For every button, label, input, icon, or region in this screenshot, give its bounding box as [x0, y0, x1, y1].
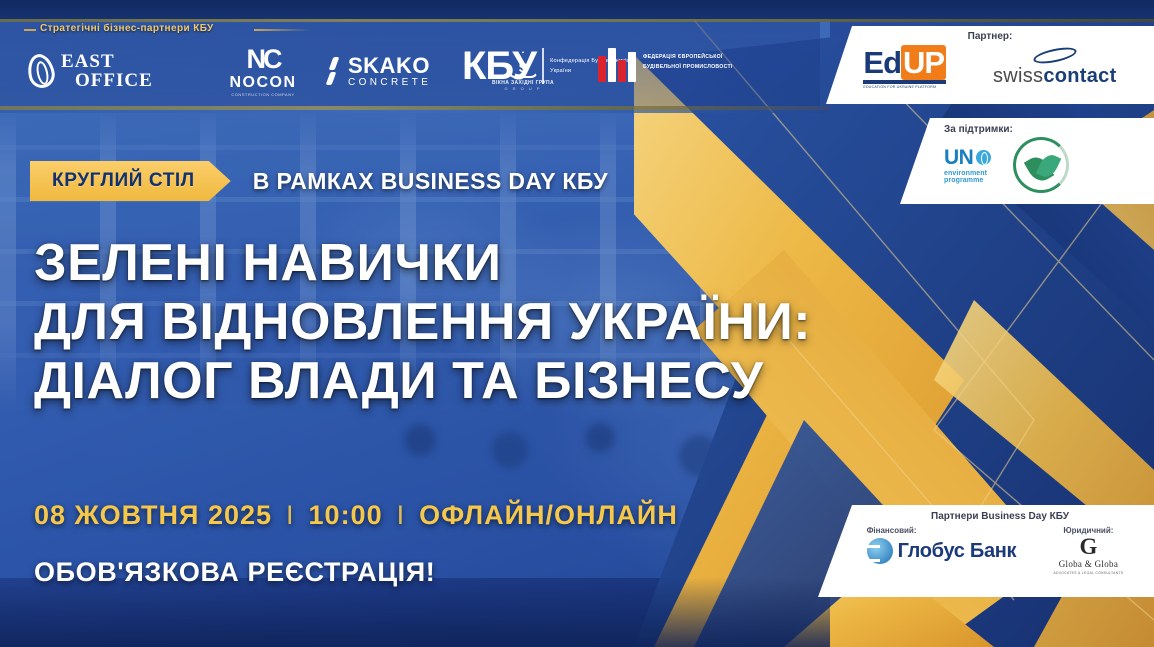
- partner-top-caption: Партнер:: [826, 31, 1154, 42]
- round-table-badge: КРУГЛИЙ СТІЛ: [30, 161, 231, 201]
- partner-panel-bottom: Партнери Business Day КБУ Фінансовий: Гл…: [818, 505, 1154, 597]
- globa-name: Globa & Globa: [1053, 559, 1123, 569]
- strategic-partners-label: Стратегічні бізнес-партнери КБУ: [40, 23, 214, 34]
- partner-bottom-caption: Партнери Business Day КБУ: [818, 511, 1154, 522]
- logo-un-environment[interactable]: UN environment programme: [944, 147, 991, 184]
- label-rule-left: [24, 29, 36, 31]
- swisscontact-pre: swiss: [993, 65, 1043, 87]
- edup-sub: EDUCATION FOR UKRAINE PLATFORM: [863, 85, 946, 89]
- nocon-title: NOCON: [198, 75, 328, 91]
- globus-bank-icon: [867, 538, 893, 564]
- skako-sub: CONCRETE: [348, 78, 431, 88]
- datetime-separator-1: I: [286, 500, 295, 531]
- logo-globus-bank[interactable]: Глобус Банк: [867, 538, 1017, 564]
- nocon-icon: NC: [198, 46, 328, 73]
- un-line2: programme: [944, 177, 991, 184]
- edup-ed: Ed: [863, 45, 901, 80]
- skako-icon: [328, 57, 343, 85]
- swisscontact-icon: [1032, 44, 1078, 66]
- logo-nocon[interactable]: NC NOCON CONSTRUCTION COMPANY: [198, 46, 328, 97]
- datetime-separator-2: I: [397, 500, 406, 531]
- event-time: 10:00: [309, 500, 383, 531]
- support-panel: За підтримки: UN environment programme: [900, 118, 1154, 204]
- globa-sub: ADVOCATES & LEGAL CONSULTANTS: [1053, 571, 1123, 575]
- east-office-line1: EAST: [61, 52, 153, 71]
- globa-icon: G: [1053, 535, 1123, 558]
- green-leaf-icon[interactable]: [1013, 137, 1069, 193]
- federation-fullname: ФЕДЕРАЦІЯ ЄВРОПЕЙСЬКОЇ БУДІВЕЛЬНОЇ ПРОМИ…: [643, 53, 739, 73]
- logo-east-office[interactable]: EAST OFFICE: [28, 52, 198, 90]
- globus-bank-name: Глобус Банк: [898, 540, 1017, 563]
- headline-line-3: ДІАЛОГ ВЛАДИ ТА БІЗНЕСУ: [34, 352, 834, 411]
- registration-notice: ОБОВ'ЯЗКОВА РЕЄСТРАЦІЯ!: [34, 557, 435, 588]
- page-title: ЗЕЛЕНІ НАВИЧКИ ДЛЯ ВІДНОВЛЕННЯ УКРАЇНИ: …: [34, 234, 834, 410]
- edup-up: UP: [901, 45, 946, 80]
- event-banner: Стратегічні бізнес-партнери КБУ EAST OFF…: [0, 0, 1154, 647]
- headline-line-1: ЗЕЛЕНІ НАВИЧКИ: [34, 234, 834, 293]
- top-dark-bar: [0, 0, 1154, 19]
- un-globe-icon: [976, 150, 991, 165]
- financial-partner-label: Фінансовий:: [867, 526, 1017, 535]
- event-datetime: 08 ЖОВТНЯ 2025 I 10:00 I ОФЛАЙН/ОНЛАЙН: [34, 500, 678, 531]
- un-abbr: UN: [944, 147, 973, 168]
- un-line1: environment: [944, 170, 991, 177]
- partner-panel-top: Партнер: EdUP EDUCATION FOR UKRAINE PLAT…: [826, 26, 1154, 104]
- east-office-icon: [28, 54, 54, 88]
- logo-edup[interactable]: EdUP EDUCATION FOR UKRAINE PLATFORM: [863, 47, 946, 89]
- logo-federation[interactable]: ФЕДЕРАЦІЯ ЄВРОПЕЙСЬКОЇ БУДІВЕЛЬНОЇ ПРОМИ…: [598, 44, 739, 82]
- logo-swisscontact[interactable]: swisscontact: [993, 49, 1117, 88]
- label-rule-right: [254, 29, 310, 31]
- headline-line-2: ДЛЯ ВІДНОВЛЕННЯ УКРАЇНИ:: [34, 293, 834, 352]
- skako-title: SKAKO: [348, 55, 431, 77]
- nocon-sub: CONSTRUCTION COMPANY: [198, 93, 328, 97]
- logo-skako-concrete[interactable]: SKAKO CONCRETE: [328, 55, 468, 88]
- support-caption: За підтримки:: [900, 124, 1154, 135]
- east-office-line2: OFFICE: [61, 71, 153, 90]
- swisscontact-post: contact: [1043, 65, 1116, 87]
- event-context-label: В РАМКАХ BUSINESS DAY КБУ: [253, 168, 608, 195]
- event-date: 08 ЖОВТНЯ 2025: [34, 500, 272, 531]
- federation-icon: [598, 44, 636, 82]
- edup-rule: [863, 80, 946, 84]
- logo-globa-globa[interactable]: Юридичний: G Globa & Globa ADVOCATES & L…: [1053, 526, 1123, 575]
- band-divider-blue: [0, 110, 830, 113]
- event-format: ОФЛАЙН/ОНЛАЙН: [419, 500, 678, 531]
- kbu-abbr: КБУ: [462, 46, 536, 86]
- kbu-divider: [542, 48, 544, 84]
- event-type-row: КРУГЛИЙ СТІЛ В РАМКАХ BUSINESS DAY КБУ: [30, 161, 608, 201]
